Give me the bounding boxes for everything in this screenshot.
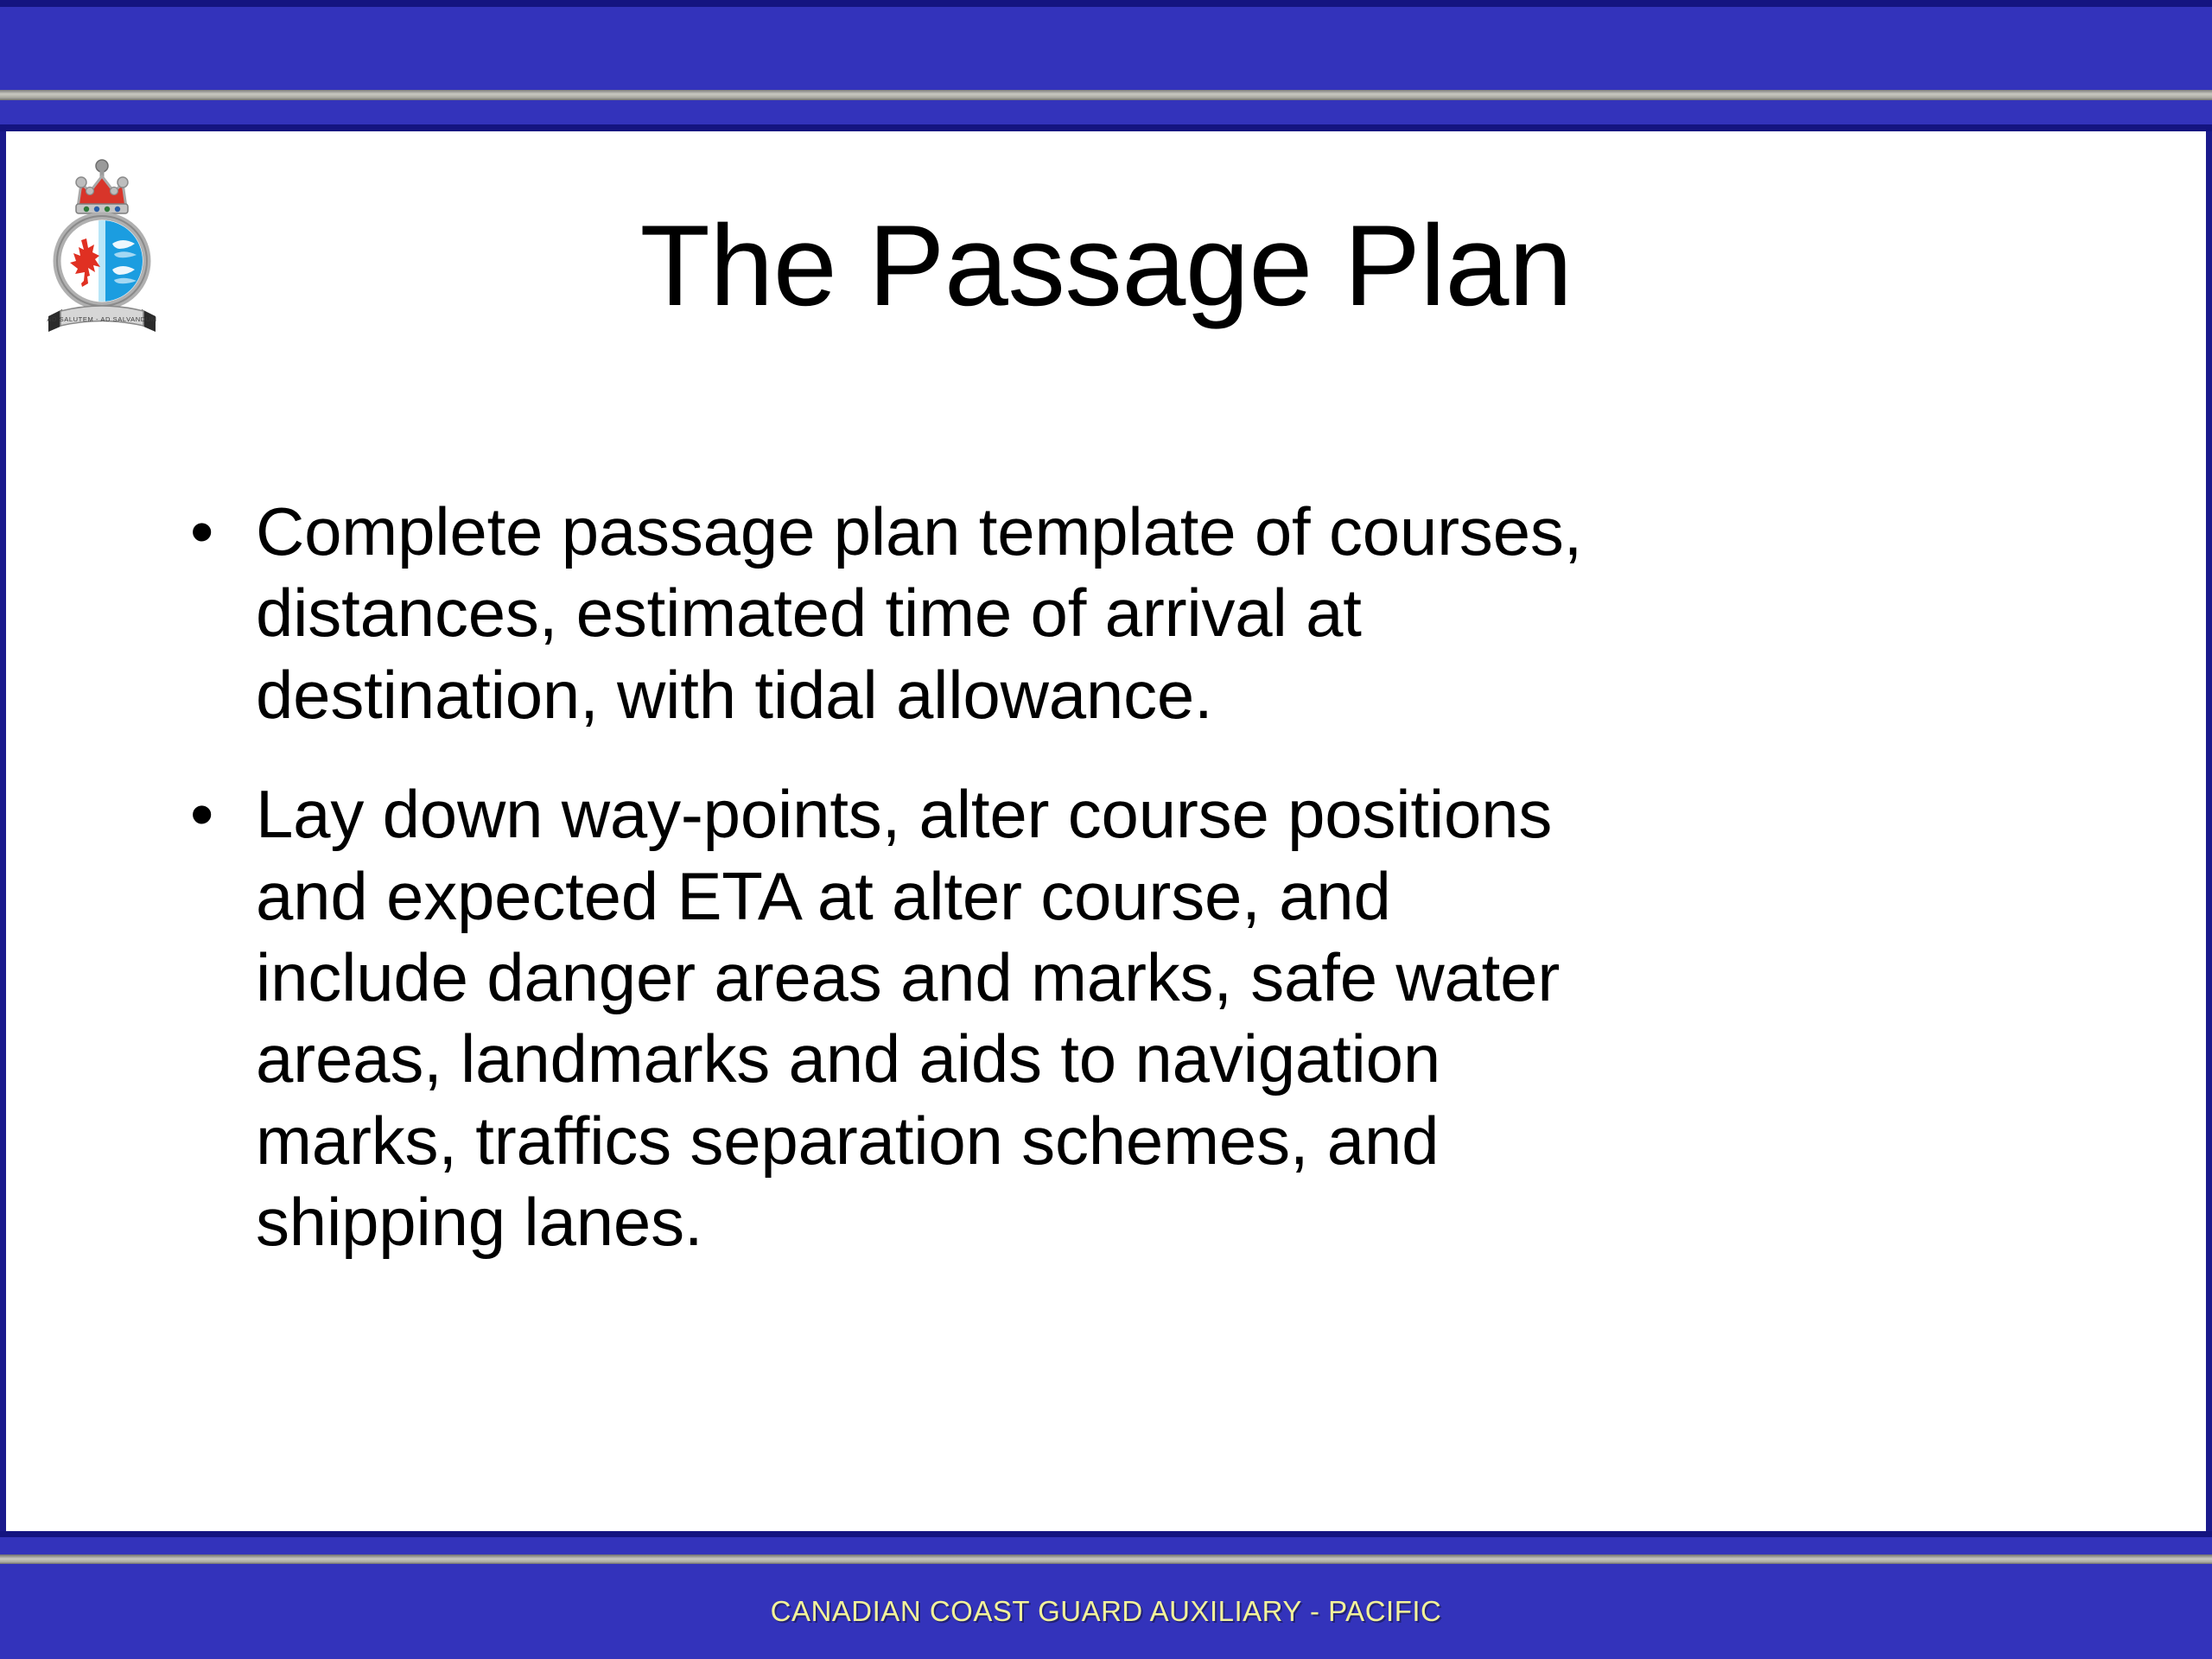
top-banner [0, 0, 2212, 131]
bullet-item: • Complete passage plan template of cour… [169, 491, 2053, 735]
top-banner-blue-strip [0, 100, 2212, 124]
top-banner-navy-underline [0, 124, 2212, 131]
bullet-marker-icon: • [169, 773, 256, 855]
top-banner-navy-edge [0, 0, 2212, 7]
slide-body: • Complete passage plan template of cour… [169, 491, 2053, 1262]
bottom-banner-blue-strip [0, 1537, 2212, 1554]
motto-ribbon: AD SALUTEM - AD SALVANDUM [47, 306, 156, 332]
svg-text:AD SALUTEM - AD SALVANDUM: AD SALUTEM - AD SALVANDUM [47, 315, 156, 323]
ccga-crest-logo: AD SALUTEM - AD SALVANDUM [33, 154, 171, 340]
bottom-banner-silver-rule [0, 1554, 2212, 1564]
top-banner-silver-rule [0, 90, 2212, 100]
slide-left-border [0, 0, 6, 1659]
crest-shield [57, 216, 147, 307]
crown-icon [76, 160, 128, 213]
bottom-banner: CANADIAN COAST GUARD AUXILIARY - PACIFIC [0, 1531, 2212, 1659]
bullet-text: Complete passage plan template of course… [256, 491, 1949, 735]
footer-text: CANADIAN COAST GUARD AUXILIARY - PACIFIC [0, 1564, 2212, 1659]
bullet-item: • Lay down way-points, alter course posi… [169, 773, 2053, 1262]
bullet-marker-icon: • [169, 491, 256, 572]
slide-title: The Passage Plan [225, 206, 1987, 327]
bottom-banner-navy-edge [0, 1531, 2212, 1537]
top-banner-blue-band [0, 7, 2212, 90]
presentation-slide: AD SALUTEM - AD SALVANDUM The Passage Pl… [0, 0, 2212, 1659]
bullet-text: Lay down way-points, alter course positi… [256, 773, 1949, 1262]
slide-right-border [2206, 0, 2212, 1659]
